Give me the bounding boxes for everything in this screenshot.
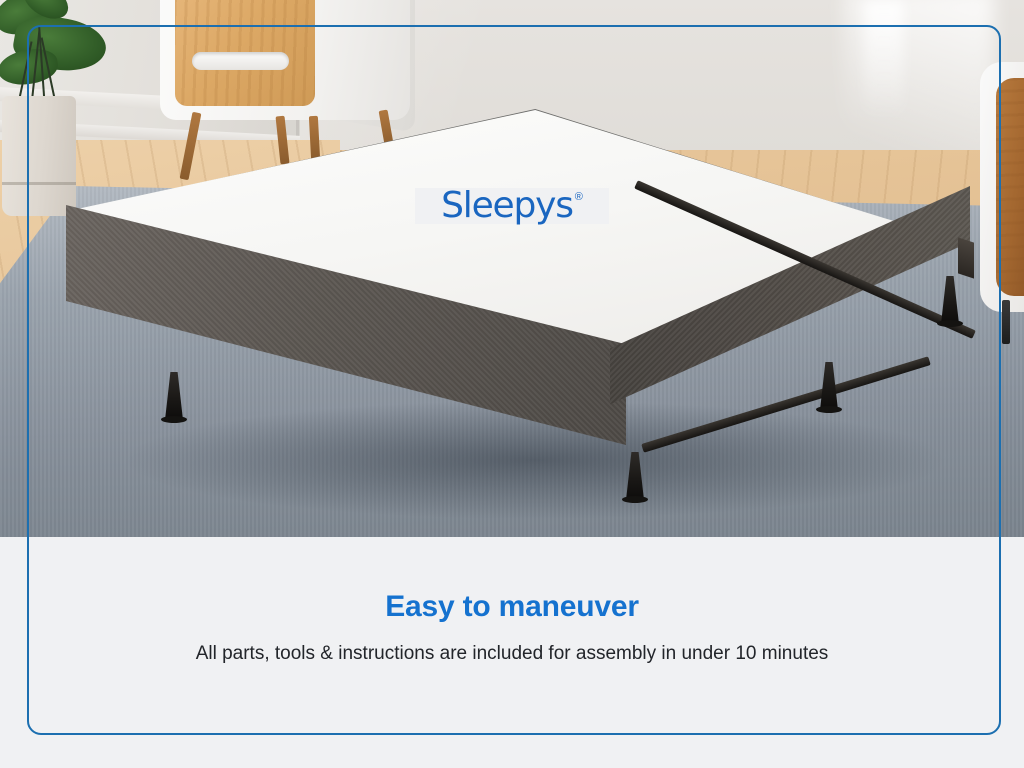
brand-logo-row: Sleepys ®: [0, 176, 1024, 236]
headline: Easy to maneuver: [0, 590, 1024, 624]
product-photo: [0, 0, 1024, 537]
bed-leg-foot: [161, 416, 187, 423]
bed-leg: [941, 276, 959, 324]
brand-logo: Sleepys ®: [415, 188, 609, 224]
subheadline: All parts, tools & instructions are incl…: [0, 643, 1024, 665]
brand-wordmark: Sleepys: [441, 188, 573, 224]
bed-frame-bracket: [958, 237, 974, 278]
product-feature-card: Easy to maneuver All parts, tools & inst…: [0, 0, 1024, 768]
bed-leg-foot: [816, 406, 842, 413]
registered-trademark-icon: ®: [575, 191, 583, 203]
caption-panel: Easy to maneuver All parts, tools & inst…: [0, 537, 1024, 768]
bed-leg: [165, 372, 183, 420]
bed-leg-foot: [622, 496, 648, 503]
bed-leg-foot: [937, 320, 963, 327]
box-spring-foundation: [0, 0, 1024, 537]
bed-leg: [820, 362, 838, 410]
